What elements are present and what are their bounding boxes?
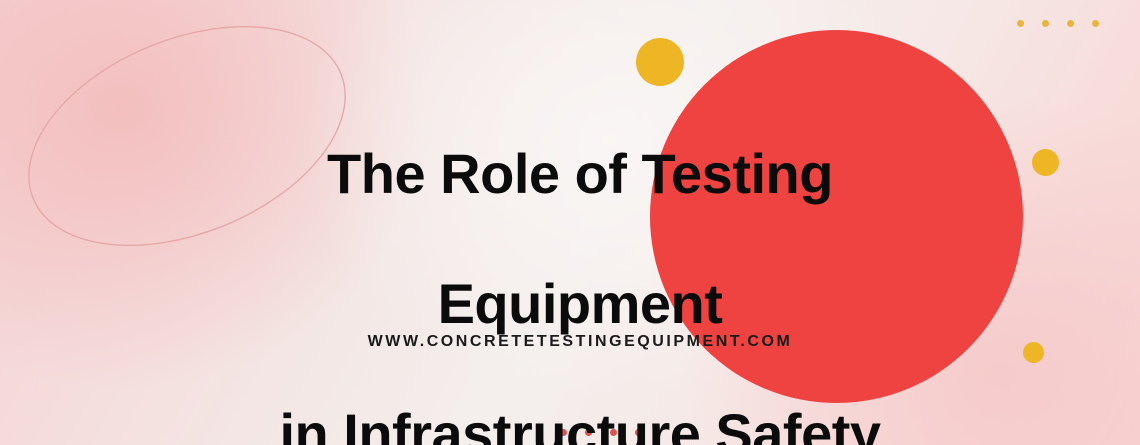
headline-line-3: in Infrastructure Safety [50,401,1110,445]
banner-content: The Role of Testing Equipment in Infrast… [0,0,1140,445]
headline-line-2: Equipment [50,271,1110,336]
headline-line-1: The Role of Testing [50,141,1110,206]
website-url: WWW.CONCRETETESTINGEQUIPMENT.COM [50,333,1110,351]
promo-banner: The Role of Testing Equipment in Infrast… [0,0,1140,445]
banner-headline: The Role of Testing Equipment in Infrast… [50,76,1110,445]
